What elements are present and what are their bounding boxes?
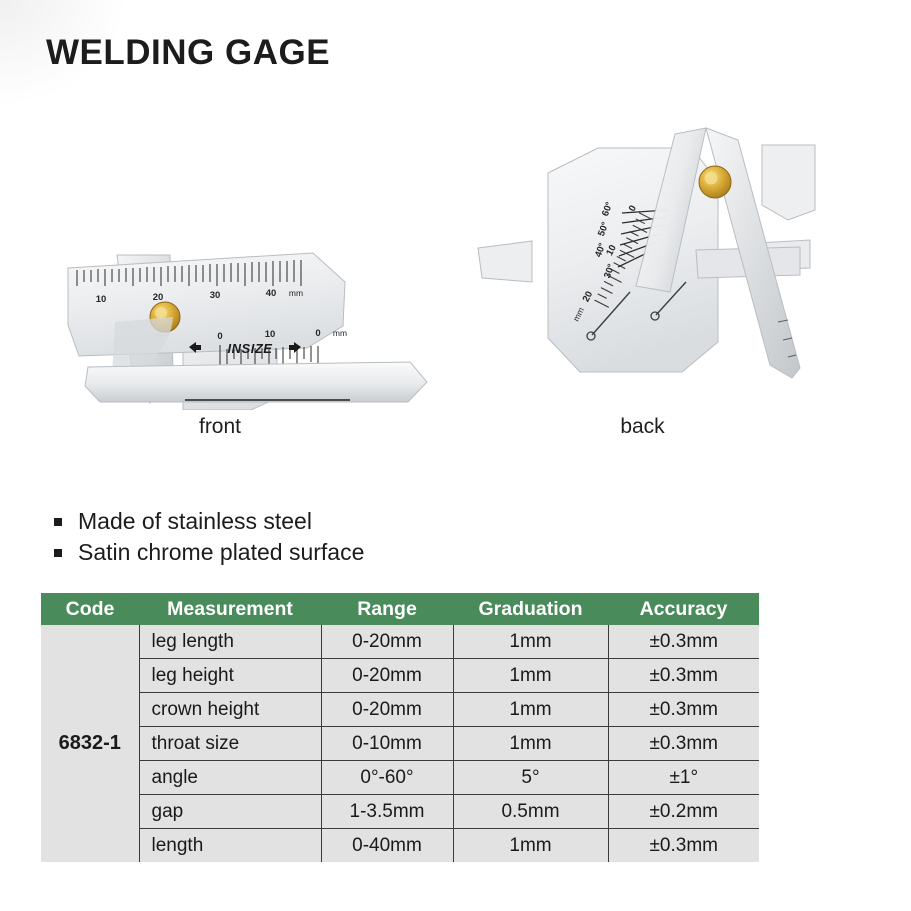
cell-range: 0-20mm	[321, 625, 453, 659]
front-top-scale-unit: mm	[289, 288, 303, 298]
cell-accuracy: ±0.3mm	[608, 659, 759, 693]
front-top-scale-label-10: 10	[96, 294, 107, 305]
cell-code: 6832-1	[41, 625, 139, 862]
table-row: gap 1-3.5mm 0.5mm ±0.2mm	[41, 795, 759, 829]
back-left-tab	[478, 241, 532, 282]
back-right-tab-upper	[762, 145, 815, 220]
column-header-measurement: Measurement	[139, 593, 321, 625]
cell-measurement: crown height	[139, 693, 321, 727]
front-rivet-highlight	[155, 307, 167, 319]
cell-graduation: 1mm	[453, 829, 608, 863]
cell-measurement: leg height	[139, 659, 321, 693]
cell-graduation: 5°	[453, 761, 608, 795]
front-bottom-scale-label-10: 10	[265, 329, 276, 340]
cell-graduation: 1mm	[453, 659, 608, 693]
front-sliding-arm	[85, 362, 427, 402]
table-header: Code Measurement Range Graduation Accura…	[41, 593, 759, 625]
column-header-accuracy: Accuracy	[608, 593, 759, 625]
cell-graduation: 1mm	[453, 727, 608, 761]
page-title: WELDING GAGE	[46, 33, 330, 73]
cell-measurement: gap	[139, 795, 321, 829]
cell-range: 0°-60°	[321, 761, 453, 795]
table-row: 6832-1 leg length 0-20mm 1mm ±0.3mm	[41, 625, 759, 659]
front-top-scale-label-40: 40	[266, 288, 277, 299]
feature-item: Made of stainless steel	[52, 506, 364, 537]
front-main-blade	[68, 253, 345, 356]
cell-range: 0-40mm	[321, 829, 453, 863]
table-row: length 0-40mm 1mm ±0.3mm	[41, 829, 759, 863]
cell-accuracy: ±0.3mm	[608, 693, 759, 727]
product-image-back: 20 10 0 mm	[470, 110, 840, 410]
cell-accuracy: ±0.3mm	[608, 829, 759, 863]
cell-range: 0-20mm	[321, 659, 453, 693]
table-row: leg height 0-20mm 1mm ±0.3mm	[41, 659, 759, 693]
cell-graduation: 1mm	[453, 693, 608, 727]
table-header-row: Code Measurement Range Graduation Accura…	[41, 593, 759, 625]
feature-item: Satin chrome plated surface	[52, 537, 364, 568]
back-rivet-highlight	[705, 172, 718, 185]
brand-name: INSIZE	[228, 341, 273, 356]
column-header-code: Code	[41, 593, 139, 625]
cell-accuracy: ±0.2mm	[608, 795, 759, 829]
cell-measurement: angle	[139, 761, 321, 795]
cell-range: 0-10mm	[321, 727, 453, 761]
cell-measurement: length	[139, 829, 321, 863]
figure-caption-back: back	[470, 415, 815, 439]
cell-graduation: 1mm	[453, 625, 608, 659]
page-root: WELDING GAGE	[0, 0, 911, 911]
column-header-graduation: Graduation	[453, 593, 608, 625]
feature-list: Made of stainless steel Satin chrome pla…	[52, 506, 364, 568]
front-bottom-scale-unit: mm	[333, 328, 347, 338]
front-top-scale-label-20: 20	[153, 292, 164, 303]
product-image-front: 10 20 30 40 mm	[55, 110, 445, 410]
cell-range: 1-3.5mm	[321, 795, 453, 829]
table-body: 6832-1 leg length 0-20mm 1mm ±0.3mm leg …	[41, 625, 759, 862]
cell-measurement: throat size	[139, 727, 321, 761]
table-row: angle 0°-60° 5° ±1°	[41, 761, 759, 795]
cell-accuracy: ±1°	[608, 761, 759, 795]
cell-accuracy: ±0.3mm	[608, 727, 759, 761]
cell-measurement: leg length	[139, 625, 321, 659]
specification-table: Code Measurement Range Graduation Accura…	[41, 593, 759, 862]
cell-accuracy: ±0.3mm	[608, 625, 759, 659]
figure-caption-front: front	[55, 415, 385, 439]
column-header-range: Range	[321, 593, 453, 625]
product-figures: 10 20 30 40 mm	[0, 110, 911, 460]
front-bottom-scale-label-0a: 0	[217, 331, 222, 342]
cell-graduation: 0.5mm	[453, 795, 608, 829]
cell-range: 0-20mm	[321, 693, 453, 727]
table-row: crown height 0-20mm 1mm ±0.3mm	[41, 693, 759, 727]
table-row: throat size 0-10mm 1mm ±0.3mm	[41, 727, 759, 761]
front-bottom-scale-label-0b: 0	[315, 328, 320, 339]
front-top-scale-label-30: 30	[210, 290, 221, 301]
